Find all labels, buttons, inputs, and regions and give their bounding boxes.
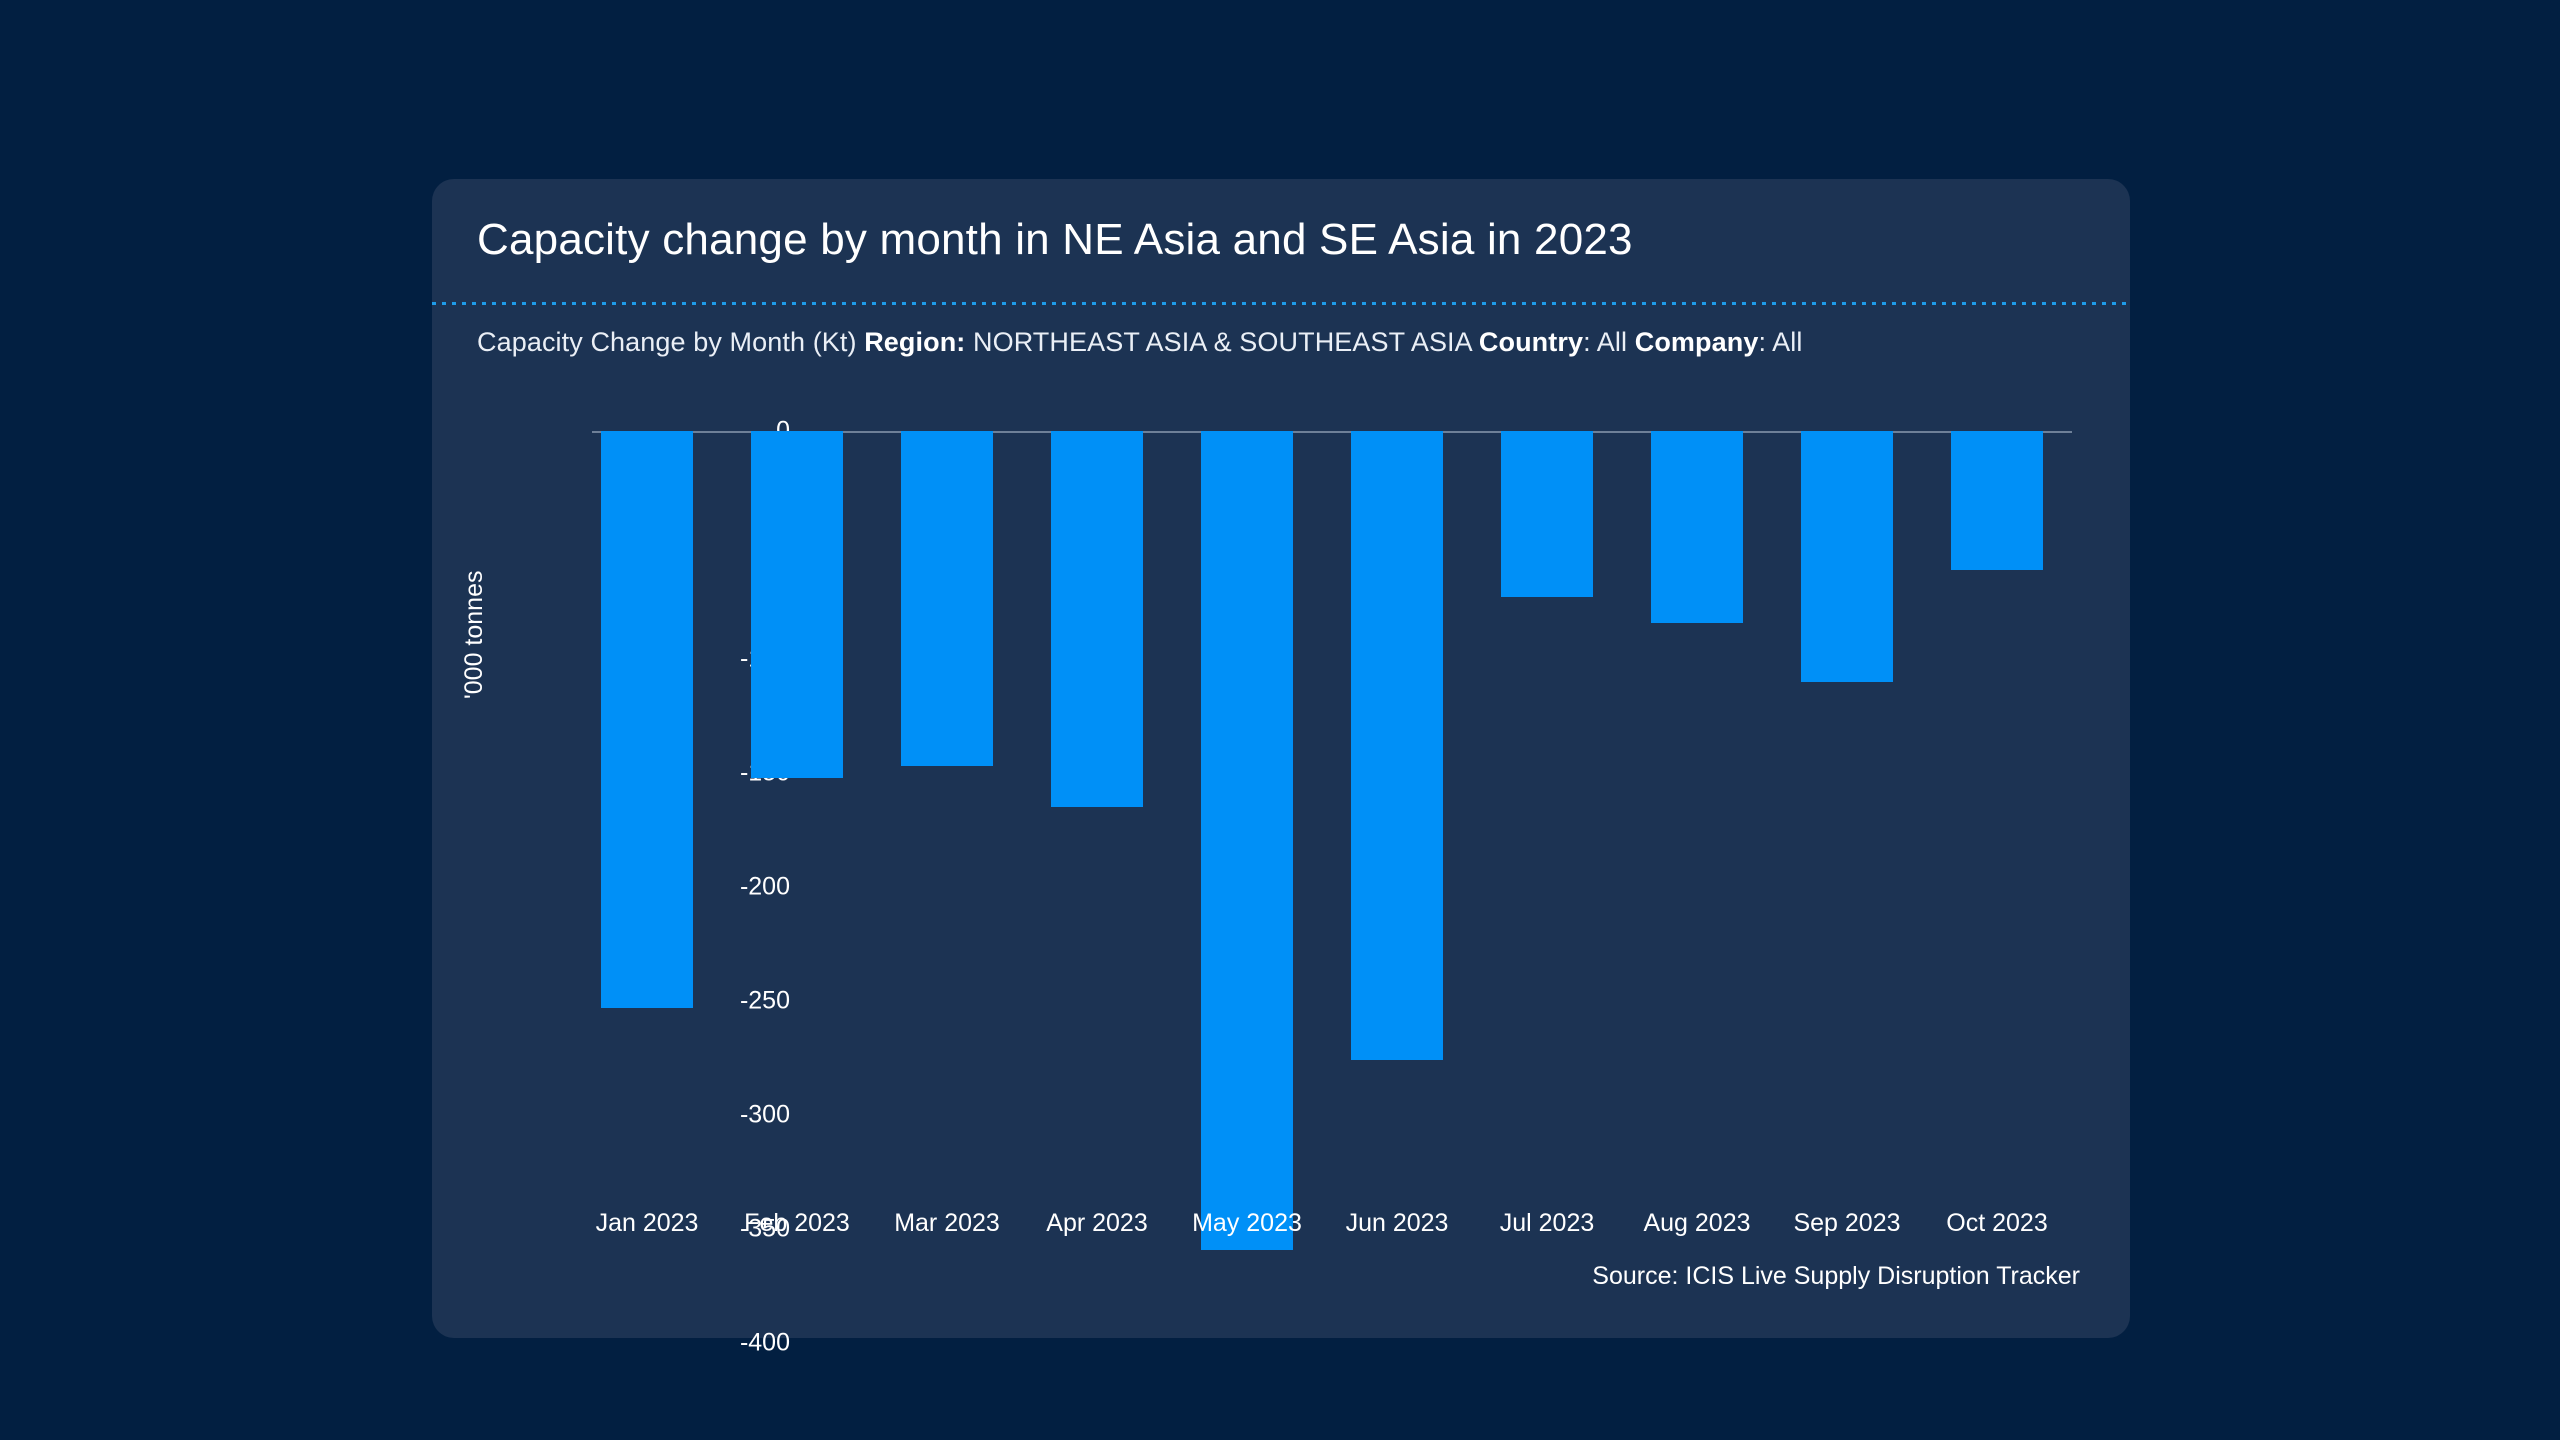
plot-area: '000 tonnes 0-50-100-150-200-250-300-350… xyxy=(432,179,2130,1338)
x-tick-label: Oct 2023 xyxy=(1897,1209,2097,1238)
chart-card: Capacity change by month in NE Asia and … xyxy=(432,179,2130,1338)
y-tick-label: -200 xyxy=(740,873,790,902)
bar[interactable] xyxy=(1951,431,2043,570)
y-tick-label: -400 xyxy=(740,1329,790,1358)
bar[interactable] xyxy=(901,431,993,766)
y-axis-title: '000 tonnes xyxy=(460,571,489,700)
bar[interactable] xyxy=(1651,431,1743,623)
bar[interactable] xyxy=(1201,431,1293,1250)
chart-source: Source: ICIS Live Supply Disruption Trac… xyxy=(1592,1262,2080,1291)
bar[interactable] xyxy=(1501,431,1593,597)
bar[interactable] xyxy=(1351,431,1443,1060)
y-tick-label: -300 xyxy=(740,1101,790,1130)
bar[interactable] xyxy=(1051,431,1143,807)
bar[interactable] xyxy=(1801,431,1893,682)
bar[interactable] xyxy=(751,431,843,778)
y-tick-label: -250 xyxy=(740,987,790,1016)
bar[interactable] xyxy=(601,431,693,1008)
